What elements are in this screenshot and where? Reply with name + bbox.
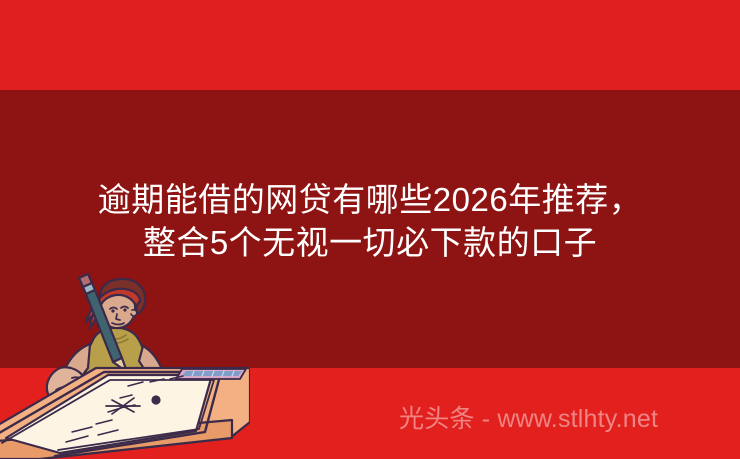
article-cover-image: 逾期能借的网贷有哪些2026年推荐， 整合5个无视一切必下款的口子 光头条 - … xyxy=(0,0,740,459)
site-watermark: 光头条 - www.stlhty.net xyxy=(399,404,658,434)
background-band-top xyxy=(0,0,740,90)
drafting-table-illustration-svg xyxy=(0,272,250,459)
drawing-illustration xyxy=(0,272,250,459)
